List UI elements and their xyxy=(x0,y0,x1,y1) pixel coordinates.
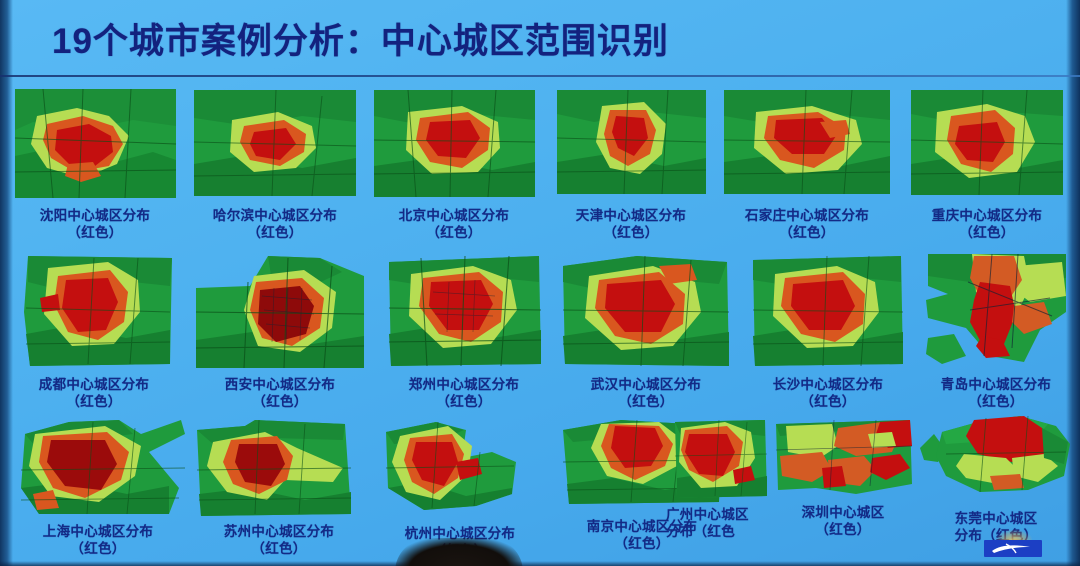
map-cell-chengdu[interactable]: 成都中心城区分布 （红色） xyxy=(8,252,180,410)
map-cell-shanghai[interactable]: 上海中心城区分布 （红色） xyxy=(8,418,188,557)
map-thumbnail-xian[interactable] xyxy=(192,252,368,372)
map-caption-chongqing: 重庆中心城区分布 （红色） xyxy=(902,207,1072,241)
map-thumbnail-wuhan[interactable] xyxy=(559,252,733,370)
map-caption-shanghai: 上海中心城区分布 （红色） xyxy=(8,523,188,557)
map-thumbnail-shenyang[interactable] xyxy=(13,86,178,201)
map-cell-beijing[interactable]: 北京中心城区分布 （红色） xyxy=(368,86,540,241)
map-thumbnail-chengdu[interactable] xyxy=(14,252,174,370)
map-thumbnail-suzhou[interactable] xyxy=(193,418,365,518)
title-divider-rule xyxy=(0,75,1080,77)
map-caption-wuhan: 武汉中心城区分布 （红色） xyxy=(556,376,736,410)
map-thumbnail-shenzhen[interactable] xyxy=(772,418,914,498)
map-thumbnail-shijiazhuang[interactable] xyxy=(722,86,892,198)
map-cell-zhengzhou[interactable]: 郑州中心城区分布 （红色） xyxy=(378,252,550,410)
map-caption-shenyang: 沈阳中心城区分布 （红色） xyxy=(10,207,180,241)
audience-head-silhouette xyxy=(395,538,523,566)
map-cell-haerbin[interactable]: 哈尔滨中心城区分布 （红色） xyxy=(188,86,362,241)
map-cell-guangzhou[interactable]: 广州中心城区 分布（红色 xyxy=(660,418,780,540)
map-caption-qingdao: 青岛中心城区分布 （红色） xyxy=(912,376,1080,410)
map-thumbnail-dongguan[interactable] xyxy=(916,414,1076,504)
map-cell-dongguan[interactable]: 东莞中心城区 分布（红色） xyxy=(912,414,1080,544)
watermark-swoosh-icon xyxy=(990,543,1034,554)
map-cell-changsha[interactable]: 长沙中心城区分布 （红色） xyxy=(744,252,912,410)
bottom-edge-vignette xyxy=(0,561,1080,566)
map-caption-xian: 西安中心城区分布 （红色） xyxy=(190,376,370,410)
map-thumbnail-hangzhou[interactable] xyxy=(376,418,544,520)
map-thumbnail-shanghai[interactable] xyxy=(9,418,187,518)
map-caption-suzhou: 苏州中心城区分布 （红色） xyxy=(190,523,368,557)
map-caption-shijiazhuang: 石家庄中心城区分布 （红色） xyxy=(718,207,896,241)
map-thumbnail-qingdao[interactable] xyxy=(920,252,1072,372)
map-cell-chongqing[interactable]: 重庆中心城区分布 （红色） xyxy=(902,86,1072,241)
map-caption-changsha: 长沙中心城区分布 （红色） xyxy=(744,376,912,410)
map-caption-tianjin: 天津中心城区分布 （红色） xyxy=(548,207,714,241)
map-caption-shenzhen: 深圳中心城区 （红色） xyxy=(768,504,918,538)
map-caption-haerbin: 哈尔滨中心城区分布 （红色） xyxy=(188,207,362,241)
map-thumbnail-changsha[interactable] xyxy=(749,252,907,370)
map-caption-zhengzhou: 郑州中心城区分布 （红色） xyxy=(378,376,550,410)
map-thumbnail-tianjin[interactable] xyxy=(554,86,709,198)
map-caption-beijing: 北京中心城区分布 （红色） xyxy=(368,207,540,241)
map-cell-tianjin[interactable]: 天津中心城区分布 （红色） xyxy=(548,86,714,241)
map-cell-shijiazhuang[interactable]: 石家庄中心城区分布 （红色） xyxy=(718,86,896,241)
map-thumbnail-chongqing[interactable] xyxy=(907,86,1067,199)
map-cell-xian[interactable]: 西安中心城区分布 （红色） xyxy=(190,252,370,410)
map-thumbnail-guangzhou[interactable] xyxy=(671,418,769,500)
map-cell-shenzhen[interactable]: 深圳中心城区 （红色） xyxy=(768,418,918,538)
map-cell-shenyang[interactable]: 沈阳中心城区分布 （红色） xyxy=(10,86,180,241)
map-thumbnail-zhengzhou[interactable] xyxy=(383,252,545,370)
map-thumbnail-haerbin[interactable] xyxy=(192,86,358,201)
map-cell-qingdao[interactable]: 青岛中心城区分布 （红色） xyxy=(912,252,1080,410)
presentation-slide: 19个城市案例分析：中心城区范围识别 沈阳 xyxy=(0,0,1080,566)
watermark-logo xyxy=(984,540,1042,557)
slide-title: 19个城市案例分析：中心城区范围识别 xyxy=(52,13,669,64)
map-cell-suzhou[interactable]: 苏州中心城区分布 （红色） xyxy=(190,418,368,557)
map-caption-guangzhou: 广州中心城区 分布（红色 xyxy=(660,506,780,540)
map-caption-chengdu: 成都中心城区分布 （红色） xyxy=(8,376,180,410)
map-thumbnail-beijing[interactable] xyxy=(372,86,537,201)
map-cell-wuhan[interactable]: 武汉中心城区分布 （红色） xyxy=(556,252,736,410)
